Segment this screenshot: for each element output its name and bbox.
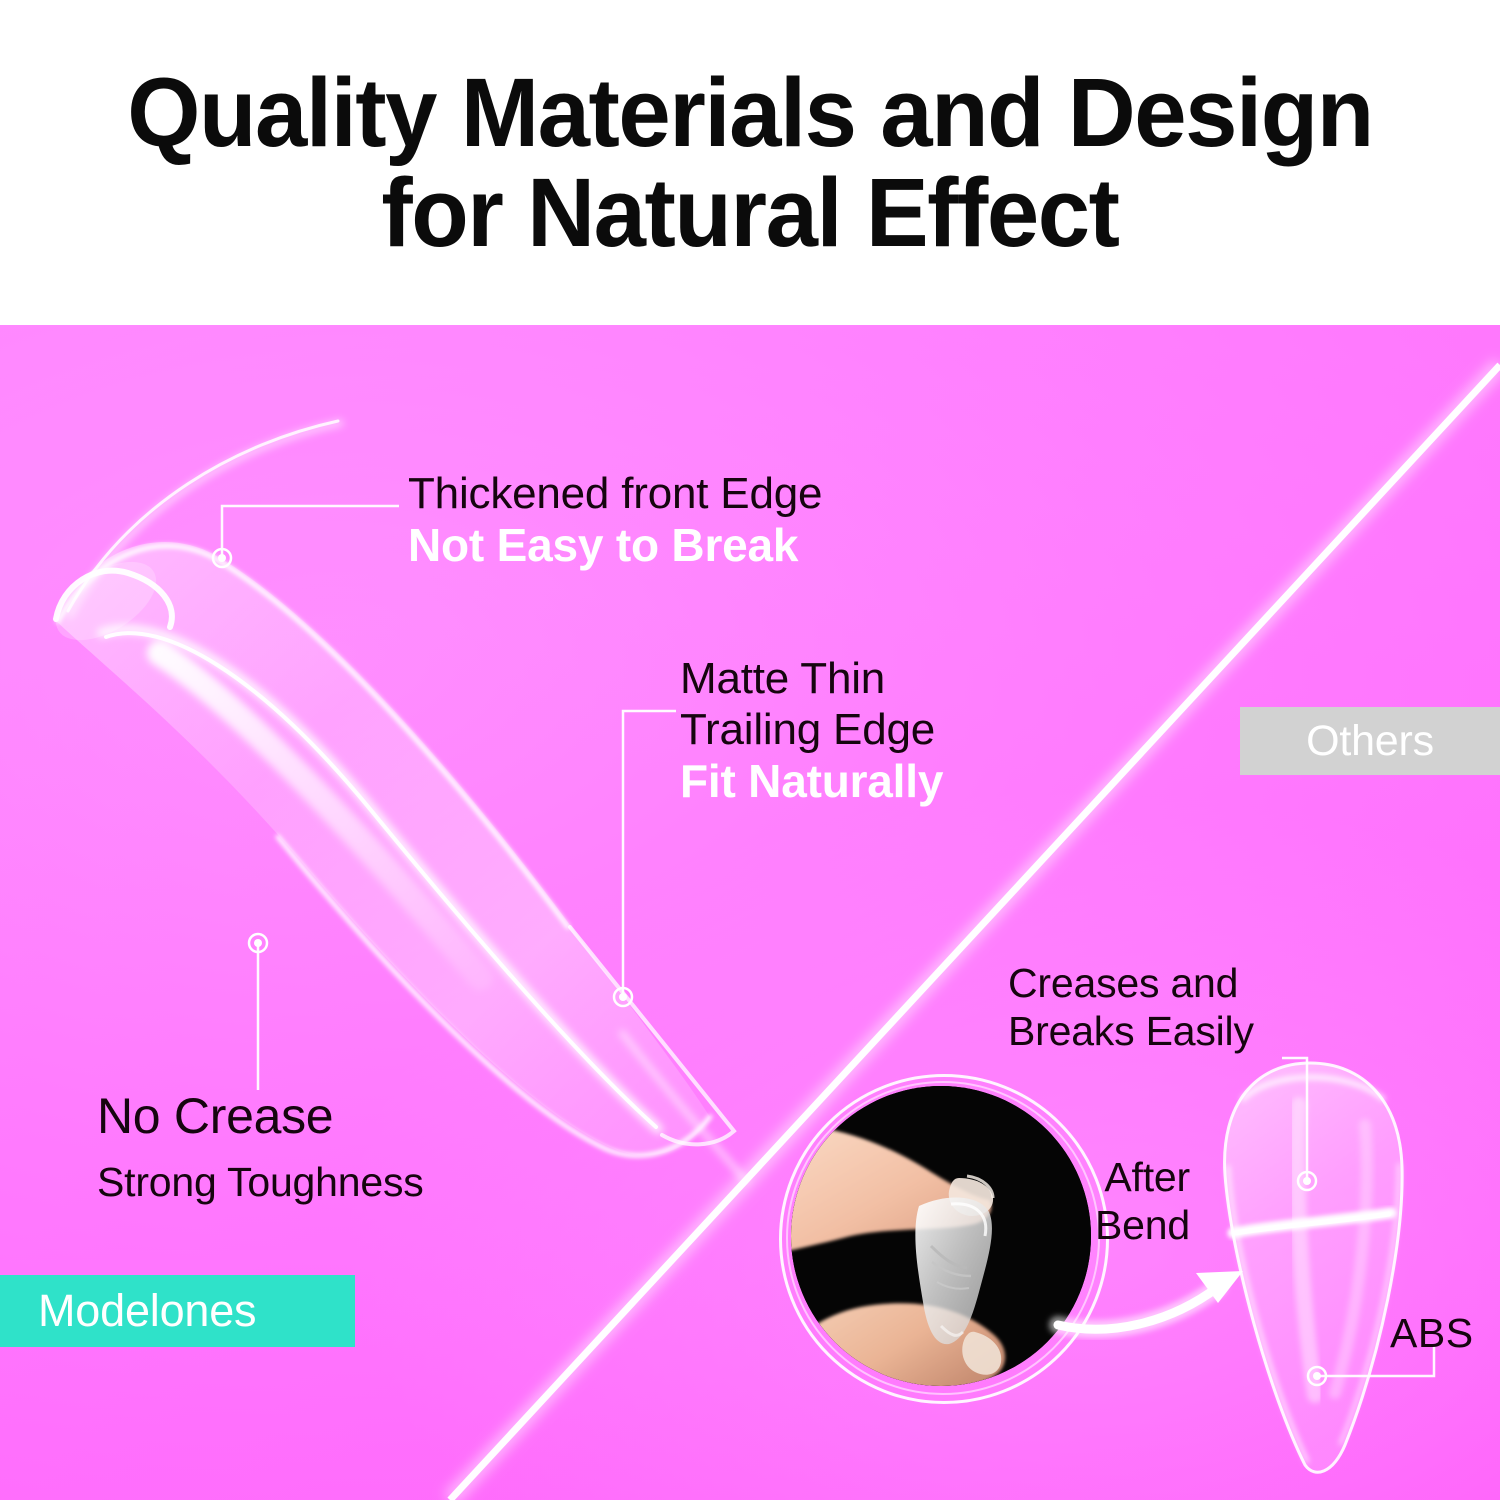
others-badge: Others: [1240, 707, 1500, 775]
header-banner: Quality Materials and Design for Natural…: [0, 0, 1500, 325]
leader-creases: [1282, 1058, 1316, 1190]
curved-arrow-icon: [1058, 1271, 1243, 1329]
callout-matte-highlight: Fit Naturally: [680, 755, 943, 808]
others-nail-tip-illustration: [1195, 1055, 1425, 1485]
callout-thickened-title: Thickened front Edge: [408, 468, 822, 519]
fingers-holding-bent-tip-photo: [791, 1086, 1091, 1386]
callout-after-bend: After Bend: [1095, 1153, 1190, 1250]
callout-after-bend-line-1: After: [1095, 1153, 1190, 1201]
callout-thickened-highlight: Not Easy to Break: [408, 519, 822, 572]
callout-creases-breaks-easily: Creases and Breaks Easily: [1008, 959, 1254, 1056]
callout-creases-line-2: Breaks Easily: [1008, 1007, 1254, 1055]
others-badge-label: Others: [1306, 717, 1434, 766]
modelones-badge-label: Modelones: [38, 1285, 256, 1337]
callout-no-crease: No Crease Strong Toughness: [97, 1087, 424, 1206]
leader-matte: [614, 711, 676, 1006]
callout-no-crease-title: No Crease: [97, 1087, 424, 1145]
callout-matte-trailing-edge: Matte Thin Trailing Edge Fit Naturally: [680, 653, 943, 808]
callout-creases-line-1: Creases and: [1008, 959, 1254, 1007]
callout-no-crease-subtitle: Strong Toughness: [97, 1159, 424, 1206]
callout-abs-label: ABS: [1390, 1310, 1474, 1357]
page-title-line-1: Quality Materials and Design: [127, 63, 1373, 163]
product-infographic: Quality Materials and Design for Natural…: [0, 0, 1500, 1500]
page-title-line-2: for Natural Effect: [381, 163, 1118, 263]
modelones-brand-badge: Modelones: [0, 1275, 355, 1347]
callout-after-bend-line-2: Bend: [1095, 1201, 1190, 1249]
callout-thickened-front-edge: Thickened front Edge Not Easy to Break: [408, 468, 822, 572]
leader-thickened: [213, 506, 399, 567]
leader-no-crease: [249, 934, 267, 1090]
callout-matte-title-line-1: Matte Thin: [680, 653, 943, 704]
callout-abs-material: ABS: [1390, 1310, 1474, 1357]
callout-matte-title-line-2: Trailing Edge: [680, 704, 943, 755]
after-bend-photo: [791, 1086, 1091, 1386]
comparison-stage: Thickened front Edge Not Easy to Break M…: [0, 325, 1500, 1500]
